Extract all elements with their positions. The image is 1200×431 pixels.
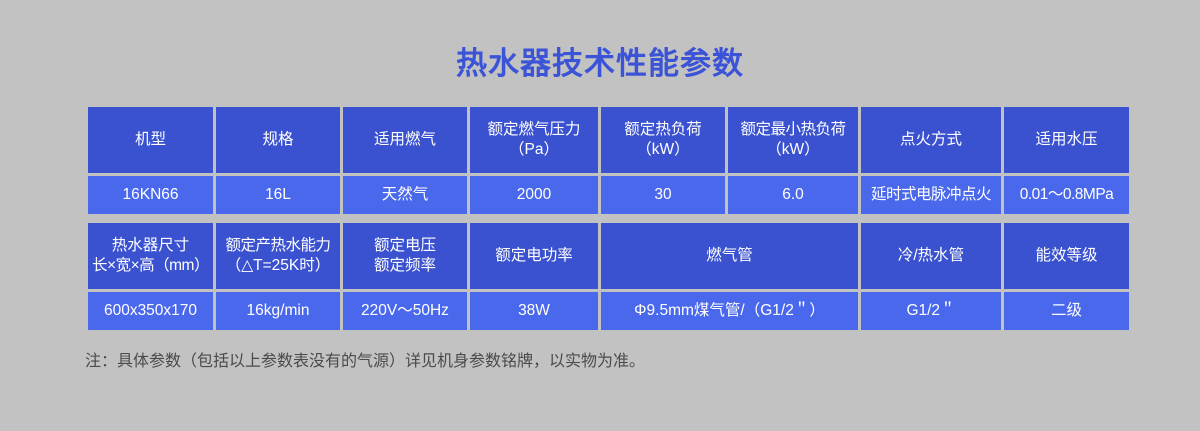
header-line-1: 规格 [218,130,338,150]
header-line-2: 额定频率 [345,256,465,276]
table-row: 600x350x170 16kg/min 220V～50Hz 38W Φ9.5m… [88,292,1129,330]
header-line-1: 机型 [90,130,211,150]
header-line-1: 热水器尺寸 [90,236,211,256]
value-cell-hot-water-capacity: 16kg/min [216,292,340,330]
header-line-1: 能效等级 [1006,246,1127,266]
header-cell-gas-pipe: 燃气管 [601,223,858,289]
header-line-1: 适用水压 [1006,130,1127,150]
header-line-2: （△T=25K时） [218,256,338,276]
table-row: 16KN66 16L 天然气 2000 30 6.0 延时式电脉冲点火 0.01… [88,176,1129,214]
header-line-2: （kW） [730,140,856,160]
header-line-2: （Pa） [472,140,596,160]
header-cell-water-pressure: 适用水压 [1004,107,1129,173]
spec-table-primary: 机型 规格 适用燃气 额定燃气压力 （Pa） [85,107,1132,214]
header-line-1: 额定电功率 [472,246,596,266]
header-line-1: 适用燃气 [345,130,465,150]
header-cell-voltage-frequency: 额定电压 额定频率 [343,223,467,289]
header-cell-energy-rating: 能效等级 [1004,223,1129,289]
value-cell-min-heat-load: 6.0 [728,176,858,214]
value-cell-energy-rating: 二级 [1004,292,1129,330]
value-cell-ignition: 延时式电脉冲点火 [861,176,1001,214]
header-cell-gas-type: 适用燃气 [343,107,467,173]
header-line-1: 燃气管 [603,246,856,266]
spec-sheet-page: 热水器技术性能参数 机型 规格 [0,0,1200,431]
header-cell-rated-heat-load: 额定热负荷 （kW） [601,107,725,173]
footnote: 注：具体参数（包括以上参数表没有的气源）详见机身参数铭牌，以实物为准。 [85,330,1115,373]
spec-table-secondary: 热水器尺寸 长×宽×高（mm） 额定产热水能力 （△T=25K时） 额定电压 额… [85,223,1132,330]
value-cell-gas-pressure: 2000 [470,176,598,214]
header-line-2: 长×宽×高（mm） [90,256,211,276]
header-cell-min-heat-load: 额定最小热负荷 （kW） [728,107,858,173]
value-cell-voltage-frequency: 220V～50Hz [343,292,467,330]
header-cell-ignition: 点火方式 [861,107,1001,173]
page-title: 热水器技术性能参数 [0,0,1200,79]
header-cell-rated-power: 额定电功率 [470,223,598,289]
header-line-1: 点火方式 [863,130,999,150]
table-row-header: 机型 规格 适用燃气 额定燃气压力 （Pa） [88,107,1129,173]
header-cell-model: 机型 [88,107,213,173]
value-cell-gas-type: 天然气 [343,176,467,214]
value-cell-dimensions: 600x350x170 [88,292,213,330]
value-cell-spec: 16L [216,176,340,214]
header-line-1: 额定产热水能力 [218,236,338,256]
header-line-1: 额定热负荷 [603,120,723,140]
spec-tables: 机型 规格 适用燃气 额定燃气压力 （Pa） [85,79,1115,330]
value-cell-gas-pipe: Φ9.5mm煤气管/（G1/2＂） [601,292,858,330]
value-cell-rated-heat-load: 30 [601,176,725,214]
table-row-header: 热水器尺寸 长×宽×高（mm） 额定产热水能力 （△T=25K时） 额定电压 额… [88,223,1129,289]
header-cell-spec: 规格 [216,107,340,173]
value-cell-water-pipe: G1/2＂ [861,292,1001,330]
value-cell-rated-power: 38W [470,292,598,330]
value-cell-model: 16KN66 [88,176,213,214]
header-cell-hot-water-capacity: 额定产热水能力 （△T=25K时） [216,223,340,289]
header-line-1: 冷/热水管 [863,246,999,266]
value-cell-water-pressure: 0.01～0.8MPa [1004,176,1129,214]
header-line-2: （kW） [603,140,723,160]
header-cell-dimensions: 热水器尺寸 长×宽×高（mm） [88,223,213,289]
header-line-1: 额定燃气压力 [472,120,596,140]
header-line-1: 额定电压 [345,236,465,256]
header-cell-water-pipe: 冷/热水管 [861,223,1001,289]
header-line-1: 额定最小热负荷 [730,120,856,140]
header-cell-gas-pressure: 额定燃气压力 （Pa） [470,107,598,173]
